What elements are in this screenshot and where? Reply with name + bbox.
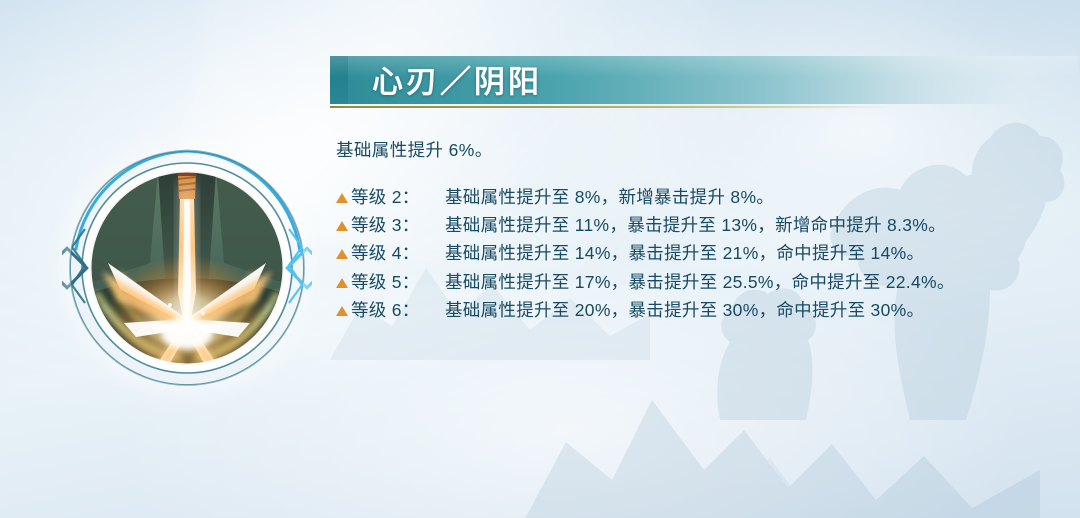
list-item: 等级 3： 基础属性提升至 11%，暴击提升至 13%，新增命中提升 8.3%。 — [336, 212, 1036, 239]
level-label: 等级 4： — [351, 240, 445, 267]
list-item: 等级 2： 基础属性提升至 8%，新增暴击提升 8%。 — [336, 184, 1036, 211]
list-item: 等级 6： 基础属性提升至 20%，暴击提升至 30%，命中提升至 30%。 — [336, 297, 1036, 324]
list-item: 等级 5： 基础属性提升至 17%，暴击提升至 25.5%，命中提升至 22.4… — [336, 269, 1036, 296]
skill-base-effect: 基础属性提升 6%。 — [336, 137, 1036, 164]
skill-detail-panel: 心刃／阴阳 基础属性提升 6%。 等级 2： 基础属性提升至 8%，新增暴击提升… — [0, 0, 1080, 518]
level-label: 等级 2： — [351, 184, 445, 211]
level-label: 等级 3： — [351, 212, 445, 239]
triangle-bullet-icon — [336, 306, 348, 316]
level-label: 等级 6： — [351, 297, 445, 324]
triangle-bullet-icon — [336, 249, 348, 259]
level-effect-text: 基础属性提升至 14%，暴击提升至 21%，命中提升至 14%。 — [445, 240, 1036, 267]
level-effect-text: 基础属性提升至 20%，暴击提升至 30%，命中提升至 30%。 — [445, 297, 1036, 324]
skill-name: 心刃／阴阳 — [372, 57, 542, 102]
skill-level-list: 等级 2： 基础属性提升至 8%，新增暴击提升 8%。 等级 3： 基础属性提升… — [336, 184, 1036, 324]
level-effect-text: 基础属性提升至 17%，暴击提升至 25.5%，命中提升至 22.4%。 — [445, 269, 1036, 296]
triangle-bullet-icon — [336, 221, 348, 231]
list-item: 等级 4： 基础属性提升至 14%，暴击提升至 21%，命中提升至 14%。 — [336, 240, 1036, 267]
skill-icon[interactable] — [62, 143, 312, 393]
triangle-bullet-icon — [336, 193, 348, 203]
triangle-bullet-icon — [336, 278, 348, 288]
background-rock-silhouette — [520, 338, 1040, 518]
level-label: 等级 5： — [351, 269, 445, 296]
skill-description: 基础属性提升 6%。 等级 2： 基础属性提升至 8%，新增暴击提升 8%。 等… — [336, 137, 1036, 325]
skill-icon-artwork — [62, 143, 312, 393]
level-effect-text: 基础属性提升至 11%，暴击提升至 13%，新增命中提升 8.3%。 — [445, 212, 1036, 239]
title-bar-underline — [330, 106, 890, 108]
level-effect-text: 基础属性提升至 8%，新增暴击提升 8%。 — [445, 184, 1036, 211]
skill-title-bar: 心刃／阴阳 — [330, 56, 1078, 104]
